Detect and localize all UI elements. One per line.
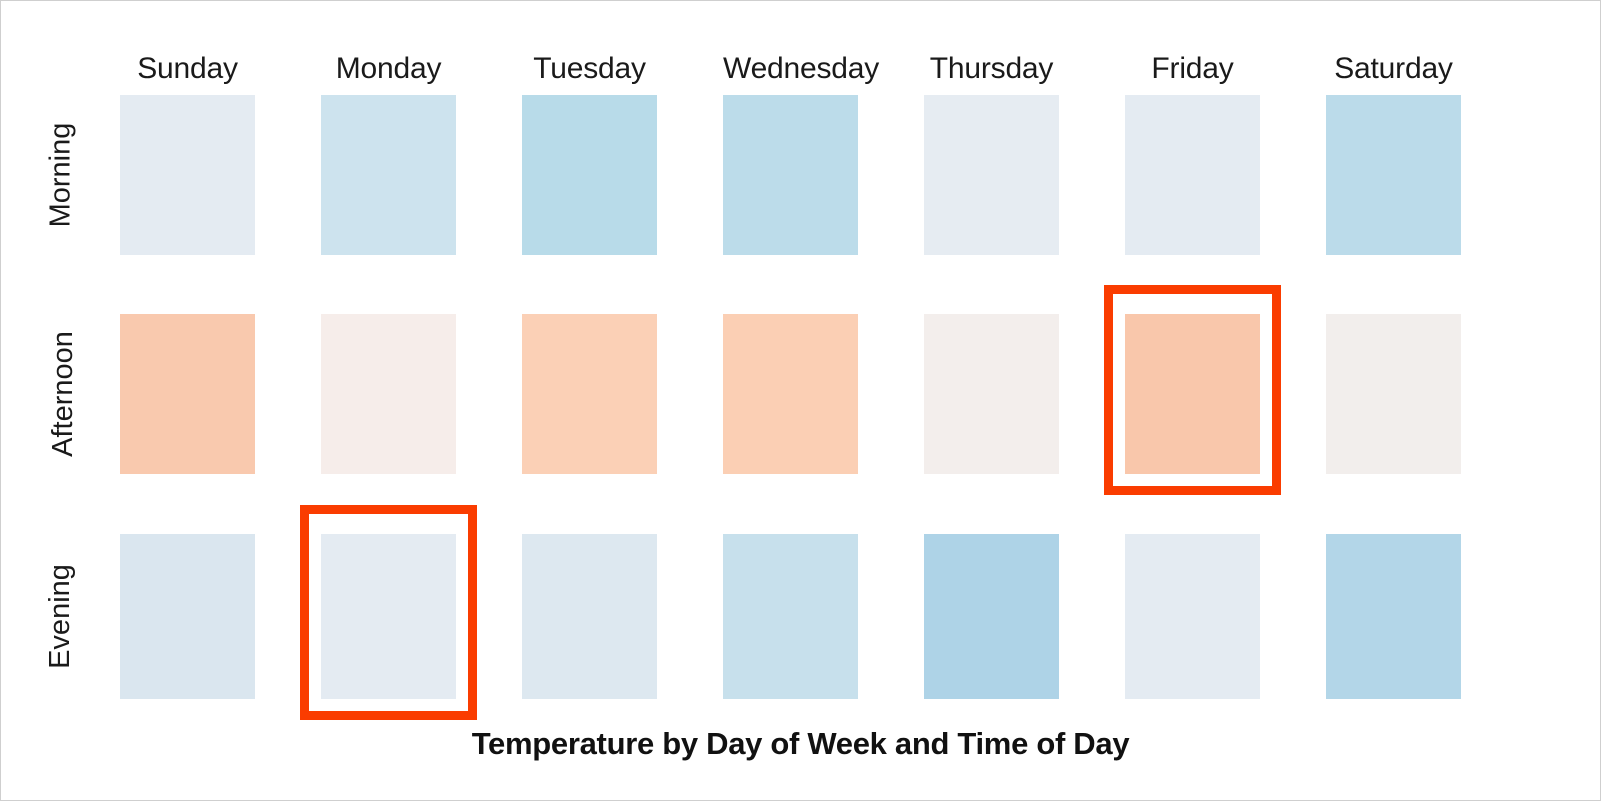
heatmap-cell-morning-wednesday[interactable]: [723, 95, 858, 255]
column-header-friday: Friday: [1125, 46, 1260, 92]
column-header-saturday: Saturday: [1326, 46, 1461, 92]
column-header-wednesday: Wednesday: [723, 46, 858, 92]
heatmap-chart: Sunday Monday Tuesday Wednesday Thursday…: [0, 0, 1601, 801]
heatmap-grid: [120, 95, 1500, 699]
row-label-evening: Evening: [0, 534, 120, 699]
heatmap-cell-evening-tuesday[interactable]: [522, 534, 657, 699]
row-label-morning: Morning: [0, 95, 120, 255]
heatmap-cell-morning-sunday[interactable]: [120, 95, 255, 255]
heatmap-cell-evening-saturday[interactable]: [1326, 534, 1461, 699]
heatmap-cell-afternoon-monday[interactable]: [321, 314, 456, 474]
row-label-afternoon: Afternoon: [0, 314, 120, 474]
row-label-morning-text: Morning: [0, 123, 140, 228]
heatmap-cell-afternoon-friday[interactable]: [1125, 314, 1260, 474]
column-header-monday: Monday: [321, 46, 456, 92]
heatmap-cell-afternoon-tuesday[interactable]: [522, 314, 657, 474]
column-header-sunday: Sunday: [120, 46, 255, 92]
heatmap-cell-morning-saturday[interactable]: [1326, 95, 1461, 255]
heatmap-cell-afternoon-wednesday[interactable]: [723, 314, 858, 474]
heatmap-cell-evening-wednesday[interactable]: [723, 534, 858, 699]
frame-border-top: [0, 0, 1601, 1]
heatmap-cell-afternoon-sunday[interactable]: [120, 314, 255, 474]
heatmap-cell-morning-thursday[interactable]: [924, 95, 1059, 255]
heatmap-cell-afternoon-saturday[interactable]: [1326, 314, 1461, 474]
column-header-thursday: Thursday: [924, 46, 1059, 92]
column-header-row: Sunday Monday Tuesday Wednesday Thursday…: [120, 46, 1500, 92]
heatmap-cell-evening-thursday[interactable]: [924, 534, 1059, 699]
heatmap-cell-morning-friday[interactable]: [1125, 95, 1260, 255]
heatmap-cell-evening-monday[interactable]: [321, 534, 456, 699]
column-header-tuesday: Tuesday: [522, 46, 657, 92]
chart-title: Temperature by Day of Week and Time of D…: [0, 726, 1601, 762]
heatmap-cell-morning-tuesday[interactable]: [522, 95, 657, 255]
heatmap-cell-morning-monday[interactable]: [321, 95, 456, 255]
heatmap-cell-afternoon-thursday[interactable]: [924, 314, 1059, 474]
heatmap-cell-evening-sunday[interactable]: [120, 534, 255, 699]
heatmap-cell-evening-friday[interactable]: [1125, 534, 1260, 699]
